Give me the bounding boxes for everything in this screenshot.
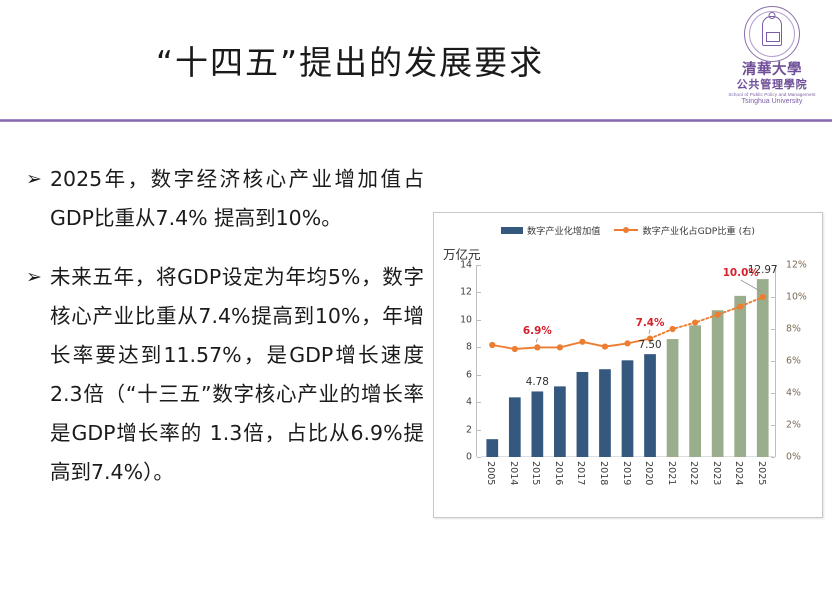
x-tick-label: 2024 [733,461,744,485]
chart-bar [689,325,701,457]
y-tick-right: 0% [786,452,801,461]
logo-en-line1: School of Public Policy and Management [724,93,820,98]
bar-value-label: 7.50 [638,339,661,351]
y-axis-left-rule [476,265,477,457]
x-tick-label: 2020 [643,461,654,485]
y-tick-notch [771,457,775,458]
annotation-leader [536,338,537,342]
logo-en-line2: Tsinghua University [724,98,820,105]
y-tick-right: 6% [786,356,801,365]
bullet-marker-icon: ➢ [26,258,42,297]
chart-bar [509,397,521,457]
trend-point [737,304,743,310]
tsinghua-seal-icon [744,6,800,62]
bar-value-label: 4.78 [526,376,549,388]
logo-cn-sub: 公共管理學院 [724,79,820,90]
chart-bar [644,354,656,457]
slide-canvas: 清華大學 公共管理學院 School of Public Policy and … [0,0,832,592]
trend-point [624,340,630,346]
y-tick-right: 12% [786,260,807,269]
legend-line-swatch-icon [614,226,638,234]
chart-legend: 数字产业化增加值 数字产业化占GDP比重 (右) [434,223,822,237]
x-tick-label: 2023 [711,461,722,485]
trend-point [489,342,495,348]
x-tick-label: 2021 [666,461,677,485]
trend-point [602,344,608,350]
legend-item-bar: 数字产业化增加值 [501,223,601,237]
trend-point [534,344,540,350]
logo-cn-main: 清華大學 [724,63,820,78]
y-tick-right: 4% [786,388,801,397]
chart-card: 数字产业化增加值 数字产业化占GDP比重 (右) 万亿元 02468101214… [433,212,823,518]
y-tick-left: 12 [460,288,472,297]
bullet-list: ➢ 2025年，数字经济核心产业增加值占GDP比重从7.4% 提高到10%。 ➢… [24,160,424,512]
x-tick-label: 2019 [621,461,632,485]
trend-point [557,344,563,350]
chart-bar [554,386,566,457]
legend-bar-label: 数字产业化增加值 [527,223,601,237]
y-tick-notch [477,457,481,458]
y-tick-left: 8 [466,343,472,352]
x-tick-label: 2005 [485,461,496,485]
y-axis-right-rule [775,265,776,457]
bullet-text: 2025年，数字经济核心产业增加值占GDP比重从7.4% 提高到10%。 [50,167,424,230]
y-tick-left: 0 [466,452,472,461]
trend-point [579,339,585,345]
chart-bar [622,360,634,457]
y-tick-left: 14 [460,260,472,269]
y-tick-left: 10 [460,315,472,324]
x-tick-label: 2022 [688,461,699,485]
trend-point [692,320,698,326]
y-tick-left: 2 [466,425,472,434]
chart-bar [486,439,498,457]
annotation-leader [649,330,650,334]
y-tick-right: 8% [786,324,801,333]
percent-annotation: 7.4% [636,317,665,329]
legend-bar-swatch-icon [501,227,523,234]
legend-line-label: 数字产业化占GDP比重 (右) [642,223,755,237]
seal-bell-icon [762,16,782,46]
legend-item-line: 数字产业化占GDP比重 (右) [614,223,755,237]
plot-area [481,265,774,457]
x-tick-label: 2018 [598,461,609,485]
y-axis-left-ticks: 02468101214 [448,265,474,457]
x-tick-label: 2015 [530,461,541,485]
x-tick-label: 2016 [553,461,564,485]
chart-bar [734,296,746,457]
trend-point [512,346,518,352]
chart-bar [712,310,724,457]
plot-svg [481,265,774,457]
y-tick-left: 4 [466,397,472,406]
trend-point [715,312,721,318]
chart-bar [599,369,611,457]
trend-point [760,294,766,300]
y-axis-right-ticks: 0%2%4%6%8%10%12% [780,265,814,457]
chart-bar [757,279,769,457]
chart-bar [667,339,679,457]
x-tick-label: 2025 [756,461,767,485]
chart-bar [577,372,589,457]
header-divider [0,119,832,122]
y-tick-right: 2% [786,420,801,429]
percent-annotation: 6.9% [523,325,552,337]
chart-inner: 数字产业化增加值 数字产业化占GDP比重 (右) 万亿元 02468101214… [434,213,822,517]
tsinghua-sppm-logo: 清華大學 公共管理學院 School of Public Policy and … [724,4,820,108]
x-axis-labels: 2005201420152016201720182019202020212022… [481,459,774,513]
bullet-item-1: ➢ 2025年，数字经济核心产业增加值占GDP比重从7.4% 提高到10%。 [24,160,424,238]
y-tick-left: 6 [466,370,472,379]
percent-annotation: 10.0% [723,267,759,279]
bullet-item-2: ➢ 未来五年，将GDP设定为年均5%，数字核心产业比重从7.4%提高到10%，年… [24,258,424,492]
page-title: “十四五”提出的发展要求 [0,36,700,84]
x-tick-label: 2017 [575,461,586,485]
y-tick-right: 10% [786,292,807,301]
trend-point [669,326,675,332]
bullet-text: 未来五年，将GDP设定为年均5%，数字核心产业比重从7.4%提高到10%，年增长… [50,265,424,484]
bullet-marker-icon: ➢ [26,160,42,199]
x-tick-label: 2014 [508,461,519,485]
chart-bar [531,391,543,457]
